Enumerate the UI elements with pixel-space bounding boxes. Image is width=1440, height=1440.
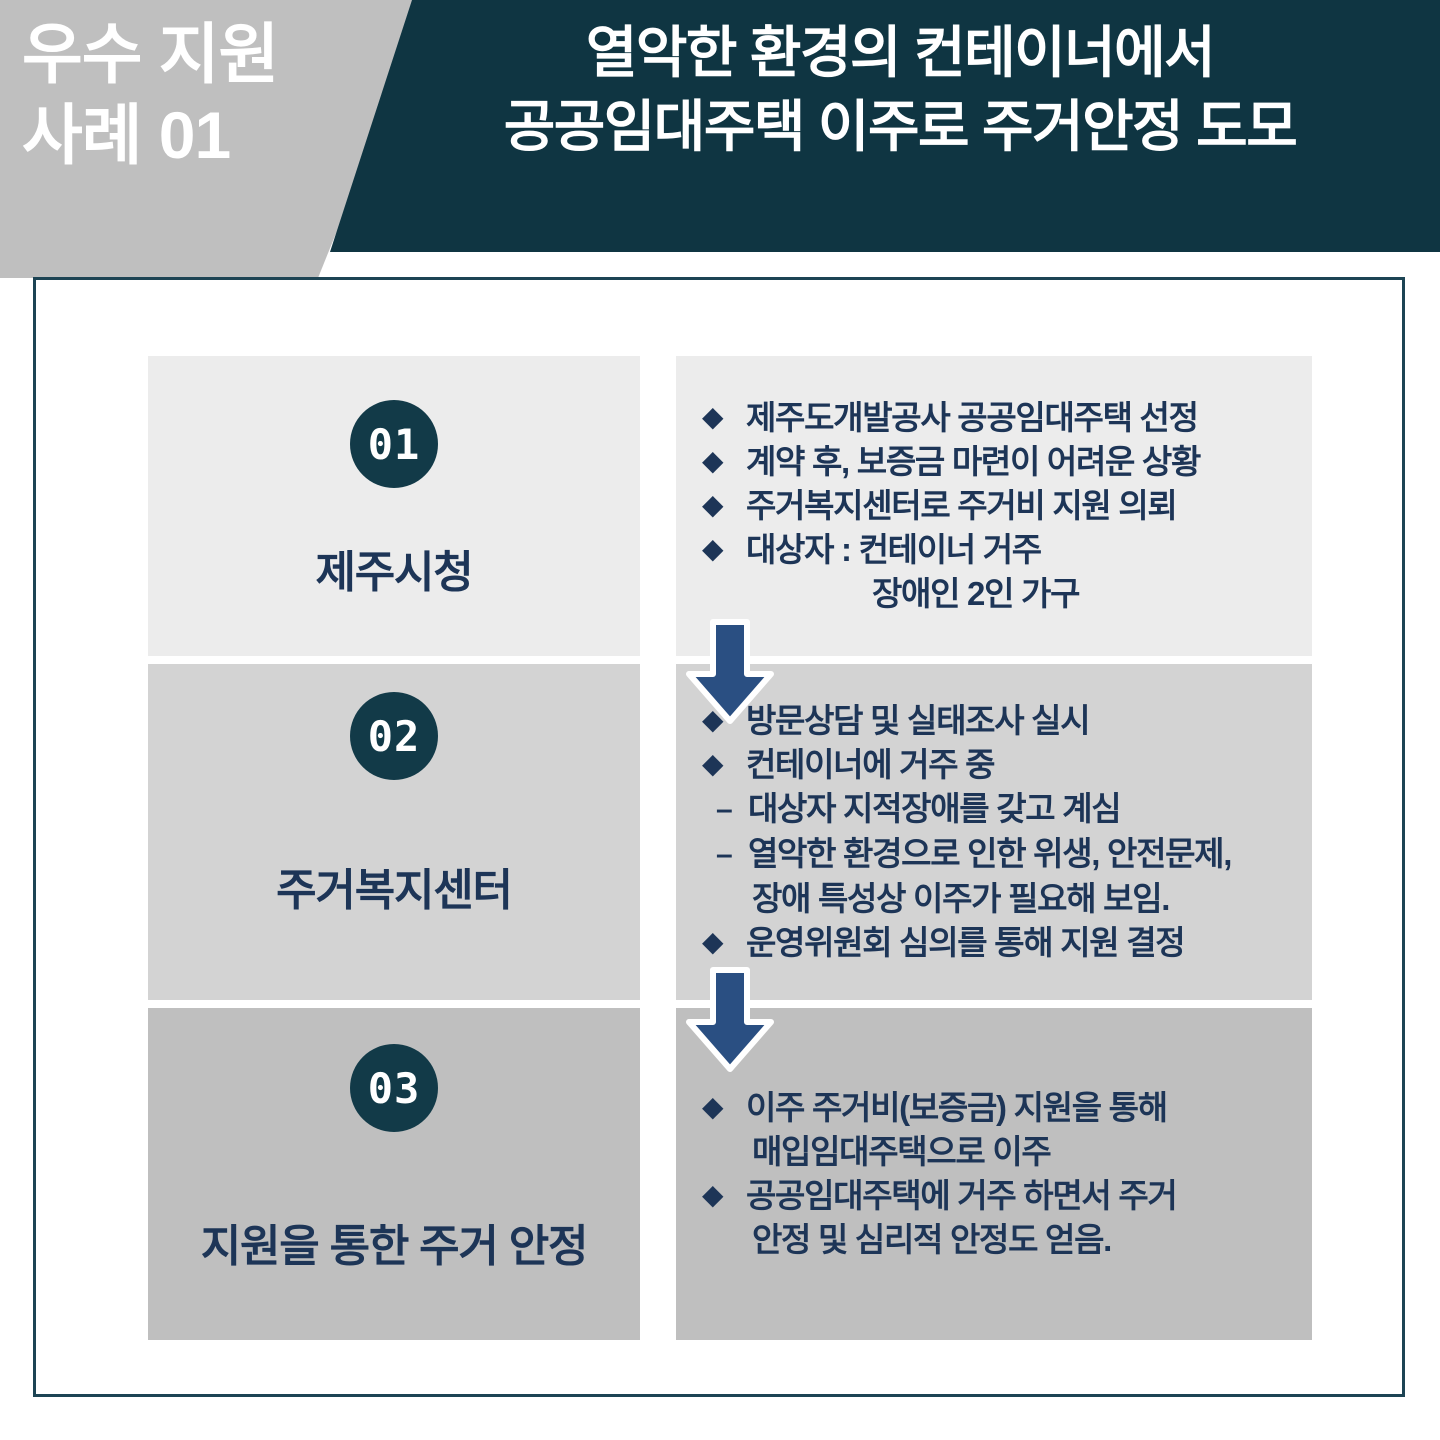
process-step-row-1: 01 제주시청 ◆ 제주도개발공사 공공임대주택 선정 ◆ 계약 후, 보증금 … [148, 356, 1312, 656]
list-item: ◆ 이주 주거비(보증금) 지원을 통해 [702, 1086, 1298, 1130]
arrow-step2-to-step3-icon [684, 966, 776, 1074]
diamond-bullet-icon: ◆ [702, 1174, 746, 1216]
list-item-text: 컨테이너에 거주 중 [746, 743, 1298, 787]
list-item: ◆ 방문상담 및 실태조사 실시 [702, 699, 1298, 743]
step-3-label: 지원을 통한 주거 안정 [148, 1210, 640, 1274]
list-item-text: 공공임대주택에 거주 하면서 주거 [746, 1174, 1298, 1218]
diamond-bullet-icon: ◆ [702, 484, 746, 526]
list-item: 장애인 2인 가구 [702, 572, 1298, 616]
list-item: ◆ 공공임대주택에 거주 하면서 주거 [702, 1174, 1298, 1218]
list-item-text: 안정 및 심리적 안정도 얻음. [746, 1218, 1298, 1262]
dash-bullet-icon: – [702, 832, 746, 877]
list-item-text: 매입임대주택으로 이주 [746, 1130, 1298, 1174]
dash-bullet-icon: – [702, 787, 746, 832]
list-item-text: 제주도개발공사 공공임대주택 선정 [746, 396, 1298, 440]
list-item-text: 운영위원회 심의를 통해 지원 결정 [746, 921, 1298, 965]
list-item: 장애 특성상 이주가 필요해 보임. [702, 877, 1298, 921]
step-1-bullet-list: ◆ 제주도개발공사 공공임대주택 선정 ◆ 계약 후, 보증금 마련이 어려운 … [676, 356, 1312, 656]
step-1-number-badge: 01 [350, 400, 438, 488]
diamond-bullet-icon: ◆ [702, 528, 746, 570]
list-item-text: 열악한 환경으로 인한 위생, 안전문제, [746, 832, 1298, 876]
step-3-number-badge: 03 [350, 1044, 438, 1132]
list-item-text: 장애인 2인 가구 [872, 572, 1298, 616]
step-2-number-badge: 02 [350, 692, 438, 780]
list-item: ◆ 제주도개발공사 공공임대주택 선정 [702, 396, 1298, 440]
step-2-label: 주거복지센터 [148, 854, 640, 918]
case-badge-label: 우수 지원 사례 01 [22, 14, 382, 175]
list-item: ◆ 계약 후, 보증금 마련이 어려운 상황 [702, 440, 1298, 484]
diamond-bullet-icon: ◆ [702, 396, 746, 438]
list-item: 매입임대주택으로 이주 [702, 1130, 1298, 1174]
list-item-text: 대상자 지적장애를 갖고 계심 [746, 787, 1298, 831]
list-item-text: 이주 주거비(보증금) 지원을 통해 [746, 1086, 1298, 1130]
step-1-left-panel: 01 제주시청 [148, 356, 640, 656]
list-item: ◆ 대상자 : 컨테이너 거주 [702, 528, 1298, 572]
list-item: ◆ 주거복지센터로 주거비 지원 의뢰 [702, 484, 1298, 528]
page-title: 열악한 환경의 컨테이너에서 공공임대주택 이주로 주거안정 도모 [380, 16, 1420, 165]
diamond-bullet-icon: ◆ [702, 1086, 746, 1128]
list-item-text: 대상자 : 컨테이너 거주 [746, 528, 1298, 572]
list-item: ◆ 컨테이너에 거주 중 [702, 743, 1298, 787]
diamond-bullet-icon: ◆ [702, 743, 746, 785]
step-3-left-panel: 03 지원을 통한 주거 안정 [148, 1008, 640, 1340]
list-item-text: 계약 후, 보증금 마련이 어려운 상황 [746, 440, 1298, 484]
list-item-text: 방문상담 및 실태조사 실시 [746, 699, 1298, 743]
list-item: – 열악한 환경으로 인한 위생, 안전문제, [702, 832, 1298, 877]
step-2-left-panel: 02 주거복지센터 [148, 664, 640, 1000]
step-1-right-panel: ◆ 제주도개발공사 공공임대주택 선정 ◆ 계약 후, 보증금 마련이 어려운 … [676, 356, 1312, 656]
step-1-label: 제주시청 [148, 536, 640, 600]
list-item-text: 장애 특성상 이주가 필요해 보임. [746, 877, 1298, 921]
list-item-text: 주거복지센터로 주거비 지원 의뢰 [746, 484, 1298, 528]
list-item: ◆ 운영위원회 심의를 통해 지원 결정 [702, 921, 1298, 965]
arrow-step1-to-step2-icon [684, 618, 776, 726]
diamond-bullet-icon: ◆ [702, 921, 746, 963]
page-header: 우수 지원 사례 01 열악한 환경의 컨테이너에서 공공임대주택 이주로 주거… [0, 0, 1440, 290]
list-item: 안정 및 심리적 안정도 얻음. [702, 1218, 1298, 1262]
diamond-bullet-icon: ◆ [702, 440, 746, 482]
process-flow: 01 제주시청 ◆ 제주도개발공사 공공임대주택 선정 ◆ 계약 후, 보증금 … [148, 356, 1312, 1340]
list-item: – 대상자 지적장애를 갖고 계심 [702, 787, 1298, 832]
